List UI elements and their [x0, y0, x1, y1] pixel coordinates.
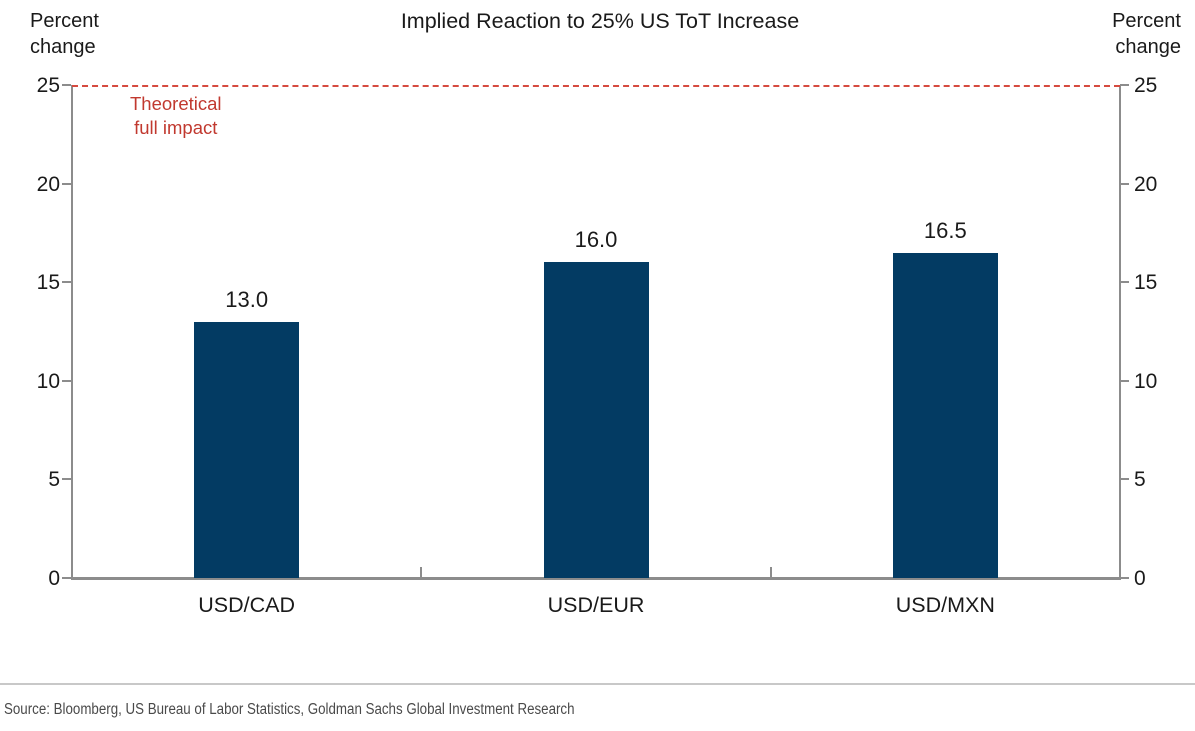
- left-axis-unit-line-1: Percent: [30, 8, 99, 34]
- x-axis-category-label: USD/CAD: [127, 592, 367, 618]
- source-note: Source: Bloomberg, US Bureau of Labor St…: [4, 700, 575, 720]
- y-axis-tick-right: [1120, 380, 1129, 382]
- bar-value-label: 13.0: [154, 289, 339, 311]
- y-axis-tick-label-left: 0: [0, 568, 60, 589]
- y-axis-left-spine: [71, 85, 73, 578]
- right-axis-unit-line-1: Percent: [1112, 8, 1181, 34]
- y-axis-tick-right: [1120, 84, 1129, 86]
- y-axis-tick-right: [1120, 577, 1129, 579]
- right-axis-unit-label: Percent change: [1112, 8, 1181, 60]
- chart-title: Implied Reaction to 25% US ToT Increase: [180, 8, 1020, 34]
- y-axis-tick-right: [1120, 478, 1129, 480]
- y-axis-tick-right: [1120, 183, 1129, 185]
- y-axis-tick-label-right: 5: [1134, 469, 1194, 490]
- y-axis-tick-label-right: 10: [1134, 371, 1194, 392]
- footer-divider: [0, 683, 1195, 685]
- y-axis-tick-left: [62, 84, 71, 86]
- y-axis-tick-left: [62, 281, 71, 283]
- y-axis-tick-right: [1120, 281, 1129, 283]
- left-axis-unit-label: Percent change: [30, 8, 99, 60]
- y-axis-tick-left: [62, 380, 71, 382]
- bar-group: 13.0: [194, 85, 299, 578]
- y-axis-tick-label-left: 20: [0, 174, 60, 195]
- y-axis-tick-left: [62, 478, 71, 480]
- y-axis-tick-label-right: 0: [1134, 568, 1194, 589]
- bar-group: 16.5: [893, 85, 998, 578]
- x-axis-separator-tick: [420, 567, 422, 578]
- y-axis-tick-left: [62, 577, 71, 579]
- bar-value-label: 16.0: [504, 229, 689, 251]
- y-axis-tick-label-right: 25: [1134, 75, 1194, 96]
- y-axis-tick-label-left: 25: [0, 75, 60, 96]
- x-axis-separator-tick: [770, 567, 772, 578]
- bar-group: 16.0: [544, 85, 649, 578]
- bar-usd-mxn[interactable]: [893, 253, 998, 578]
- y-axis-tick-label-right: 20: [1134, 174, 1194, 195]
- x-axis-category-label: USD/EUR: [476, 592, 716, 618]
- y-axis-tick-label-left: 15: [0, 272, 60, 293]
- bar-usd-eur[interactable]: [544, 262, 649, 578]
- y-axis-right-spine: [1119, 85, 1121, 578]
- y-axis-tick-label-right: 15: [1134, 272, 1194, 293]
- y-axis-tick-label-left: 5: [0, 469, 60, 490]
- y-axis-tick-label-left: 10: [0, 371, 60, 392]
- bar-value-label: 16.5: [853, 220, 1038, 242]
- y-axis-tick-left: [62, 183, 71, 185]
- plot-area: 00551010151520202525 Theoreticalfull imp…: [72, 85, 1120, 578]
- left-axis-unit-line-2: change: [30, 34, 99, 60]
- bar-usd-cad[interactable]: [194, 322, 299, 578]
- right-axis-unit-line-2: change: [1112, 34, 1181, 60]
- x-axis-category-label: USD/MXN: [825, 592, 1065, 618]
- chart-figure: Implied Reaction to 25% US ToT Increase …: [0, 0, 1195, 731]
